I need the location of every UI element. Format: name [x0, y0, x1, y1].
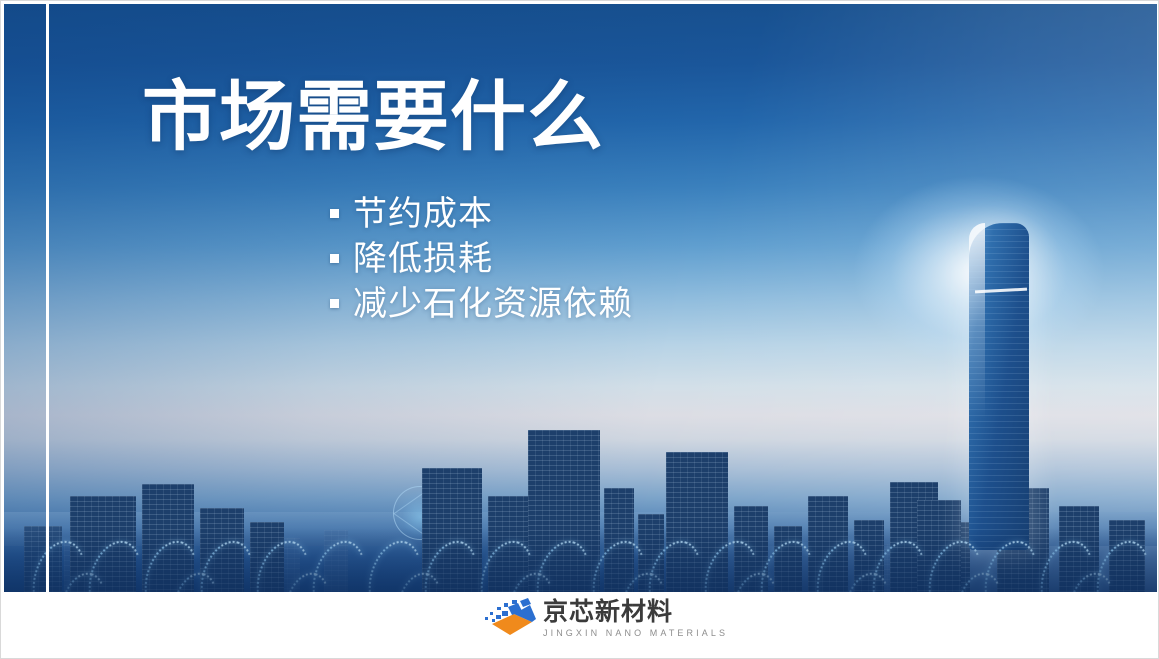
square-bullet-icon — [330, 254, 339, 263]
square-bullet-icon — [330, 209, 339, 218]
vertical-accent-line — [46, 4, 49, 592]
slide-footer: 京芯新材料 JINGXIN NANO MATERIALS — [4, 592, 1157, 656]
list-item: 节约成本 — [330, 191, 633, 236]
bullet-list: 节约成本 降低损耗 减少石化资源依赖 — [330, 191, 633, 326]
list-item-label: 减少石化资源依赖 — [353, 287, 633, 321]
list-item-label: 降低损耗 — [353, 242, 493, 276]
logo-text: 京芯新材料 JINGXIN NANO MATERIALS — [543, 600, 728, 638]
company-logo: 京芯新材料 JINGXIN NANO MATERIALS — [482, 597, 728, 641]
bottom-gradient — [4, 528, 1157, 592]
list-item: 减少石化资源依赖 — [330, 281, 633, 326]
square-bullet-icon — [330, 299, 339, 308]
logo-name-en: JINGXIN NANO MATERIALS — [543, 629, 728, 638]
slide-title: 市场需要什么 — [142, 77, 604, 159]
logo-mark-icon — [482, 597, 536, 641]
presentation-slide: 市场需要什么 节约成本 降低损耗 减少石化资源依赖 — [0, 0, 1159, 659]
list-item: 降低损耗 — [330, 236, 633, 281]
cityscape — [4, 357, 1157, 592]
logo-name-cn: 京芯新材料 — [543, 598, 673, 626]
list-item-label: 节约成本 — [353, 197, 493, 231]
